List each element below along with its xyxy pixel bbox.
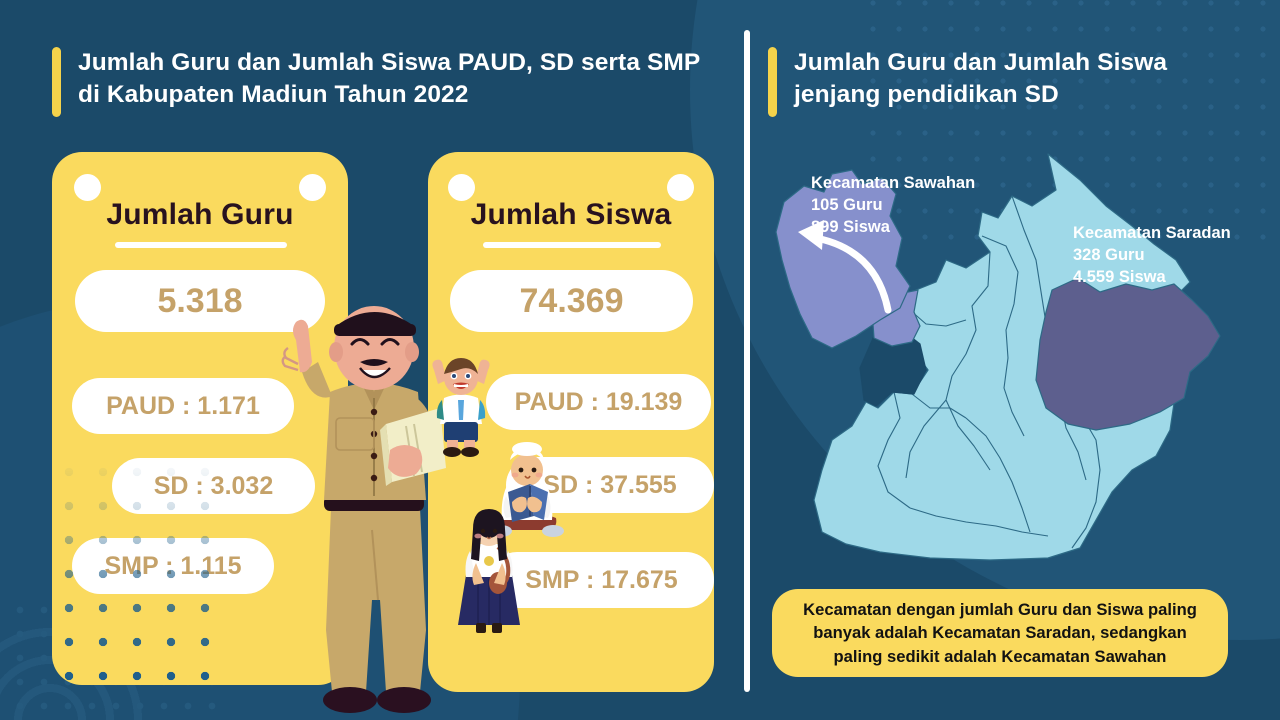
title-left-text: Jumlah Guru dan Jumlah Siswa PAUD, SD se… xyxy=(78,47,712,112)
map-label-saradan-teachers: 328 Guru xyxy=(1073,244,1231,266)
map-label-sawahan-name: Kecamatan Sawahan xyxy=(811,172,975,194)
title-right-text: Jumlah Guru dan Jumlah Siswa jenjang pen… xyxy=(794,47,1238,112)
map-label-sawahan: Kecamatan Sawahan 105 Guru 899 Siswa xyxy=(811,172,975,238)
card-siswa-row-paud: PAUD : 19.139 xyxy=(486,374,711,430)
section-divider xyxy=(744,30,750,692)
page-title-right: Jumlah Guru dan Jumlah Siswa jenjang pen… xyxy=(768,47,1238,117)
card-guru-heading: Jumlah Guru xyxy=(52,198,348,232)
map-label-saradan-students: 4.559 Siswa xyxy=(1073,266,1231,288)
card-guru-heading-rule xyxy=(115,242,287,248)
card-guru-row-smp: SMP : 1.115 xyxy=(72,538,274,594)
title-accent-bar-right xyxy=(768,47,777,117)
conclusion-box: Kecamatan dengan jumlah Guru dan Siswa p… xyxy=(772,589,1228,677)
map-label-saradan-name: Kecamatan Saradan xyxy=(1073,222,1231,244)
card-siswa-heading: Jumlah Siswa xyxy=(428,198,714,232)
punch-hole-right-icon xyxy=(667,174,694,201)
map-label-sawahan-students: 899 Siswa xyxy=(811,216,975,238)
map-label-saradan: Kecamatan Saradan 328 Guru 4.559 Siswa xyxy=(1073,222,1231,288)
infographic-canvas: Jumlah Guru dan Jumlah Siswa PAUD, SD se… xyxy=(0,0,1280,720)
student-smp-illustration xyxy=(452,505,526,635)
punch-hole-left-icon xyxy=(448,174,475,201)
punch-hole-left-icon xyxy=(74,174,101,201)
page-title-left: Jumlah Guru dan Jumlah Siswa PAUD, SD se… xyxy=(52,47,712,117)
punch-hole-right-icon xyxy=(299,174,326,201)
map-label-sawahan-teachers: 105 Guru xyxy=(811,194,975,216)
title-accent-bar-left xyxy=(52,47,61,117)
card-guru-row-paud: PAUD : 1.171 xyxy=(72,378,294,434)
card-siswa-total-value: 74.369 xyxy=(450,270,693,332)
card-siswa-heading-rule xyxy=(483,242,661,248)
